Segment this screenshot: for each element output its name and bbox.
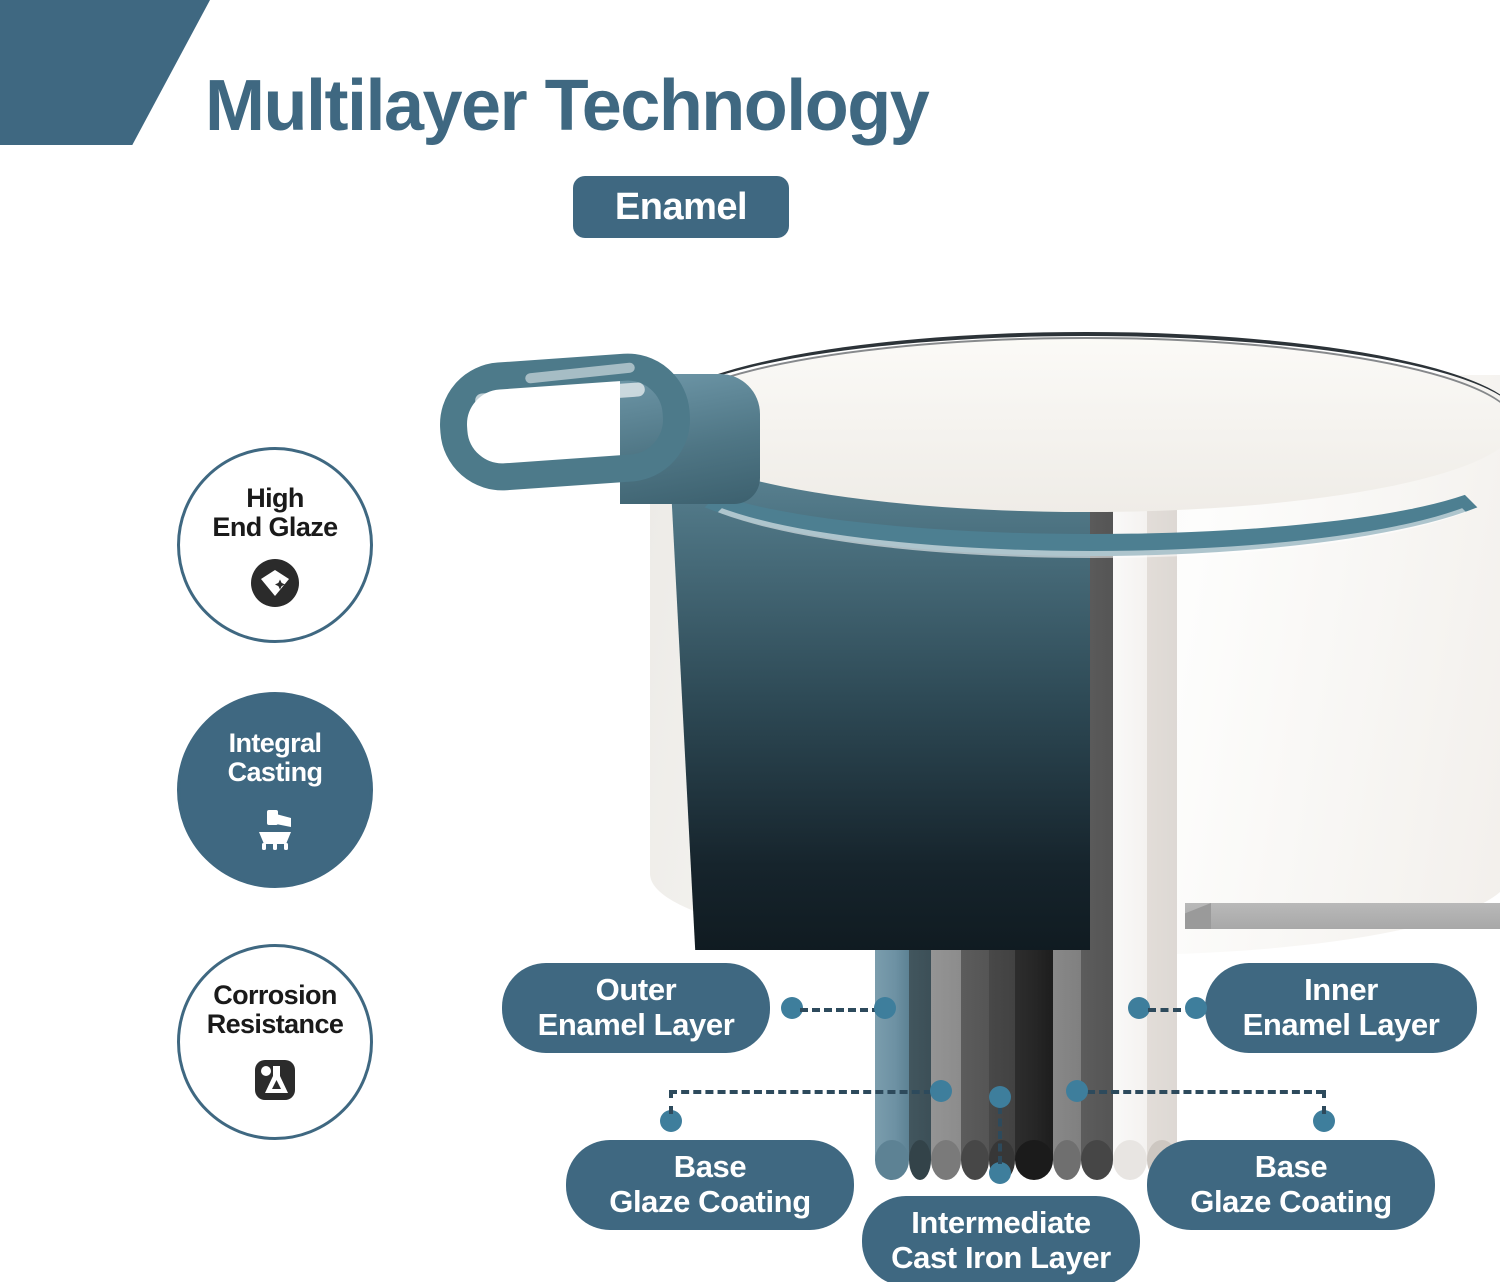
callout-line-outer-enamel <box>800 1008 880 1012</box>
callout-dot-outer-enamel-end <box>874 997 896 1019</box>
callout-base-glaze-coating-left[interactable]: Base Glaze Coating <box>566 1140 854 1230</box>
layer-foot <box>1015 1140 1053 1180</box>
callout-line-cast-iron <box>998 1106 1002 1164</box>
callout-outer-enamel-layer[interactable]: Outer Enamel Layer <box>502 963 770 1053</box>
feature-label: High End Glaze <box>212 484 337 541</box>
feature-badge-corrosion-resistance[interactable]: Corrosion Resistance <box>177 944 373 1140</box>
product-illustration <box>420 330 1500 930</box>
infographic-page: Multilayer Technology Enamel High End Gl… <box>0 0 1500 1282</box>
pot-rim-gloss <box>672 390 1500 558</box>
diamond-gem-icon <box>249 557 301 609</box>
callout-inner-enamel-layer[interactable]: Inner Enamel Layer <box>1205 963 1477 1053</box>
shelf-bar <box>1185 903 1500 929</box>
subtitle-badge-label: Enamel <box>615 186 747 229</box>
feature-label: Corrosion Resistance <box>207 981 344 1038</box>
layer-face <box>1113 460 1147 1160</box>
callout-base-glaze-coating-right[interactable]: Base Glaze Coating <box>1147 1140 1435 1230</box>
callout-line-base-glaze-left-horz <box>669 1090 944 1094</box>
feature-badge-integral-casting[interactable]: Integral Casting <box>177 692 373 888</box>
callout-dot-base-glaze-right-end <box>1066 1080 1088 1102</box>
casting-ladle-icon <box>249 802 301 854</box>
decorative-corner-shape <box>0 0 210 145</box>
callout-dot-cast-iron-end <box>989 1086 1011 1108</box>
callout-dot-inner-enamel-end <box>1185 997 1207 1019</box>
feature-label: Integral Casting <box>228 729 323 786</box>
layer-foot <box>1053 1140 1081 1180</box>
layer-foot <box>931 1140 961 1180</box>
callout-line-base-glaze-right-horz <box>1075 1090 1324 1094</box>
callout-intermediate-cast-iron-layer[interactable]: Intermediate Cast Iron Layer <box>862 1196 1140 1282</box>
feature-badge-high-end-glaze[interactable]: High End Glaze <box>177 447 373 643</box>
layer-face <box>1147 460 1177 1160</box>
callout-dot-base-glaze-left-end <box>930 1080 952 1102</box>
layer-foot <box>1113 1140 1147 1180</box>
callout-dot-cast-iron-start <box>989 1162 1011 1184</box>
page-title: Multilayer Technology <box>205 70 928 142</box>
callout-dot-inner-enamel-start <box>1128 997 1150 1019</box>
subtitle-badge: Enamel <box>573 176 789 238</box>
layer-foot <box>909 1140 931 1180</box>
layer-foot <box>961 1140 989 1180</box>
layer-inner-enamel-layer <box>1113 460 1147 1160</box>
layer-foot <box>1081 1140 1113 1180</box>
layer-inner-enamel-edge <box>1147 460 1177 1160</box>
layer-foot <box>875 1140 909 1180</box>
chemical-flask-icon <box>249 1054 301 1106</box>
